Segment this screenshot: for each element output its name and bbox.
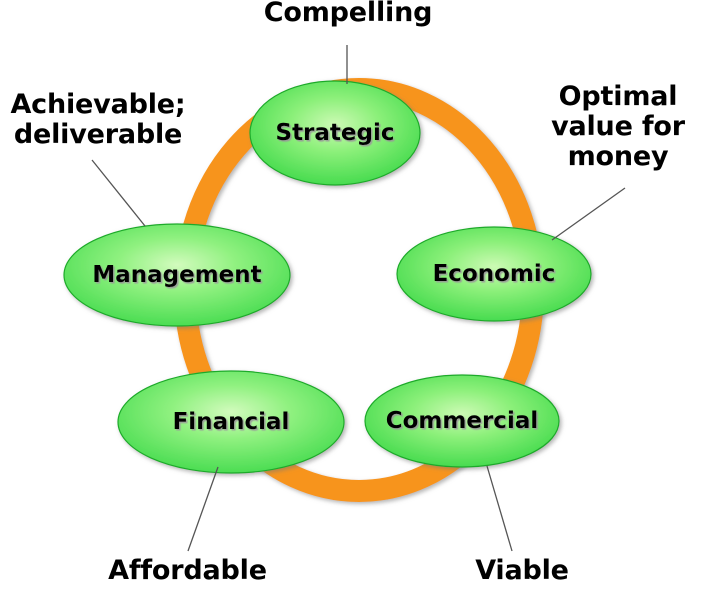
leader-line-affordable [188,467,218,551]
annotation-compelling: Compelling [248,0,448,28]
leader-line-achievable-deliverable [92,160,145,226]
node-financial-label: Financial [173,409,290,435]
annotation-viable: Viable [442,556,602,586]
node-management[interactable]: Management [64,224,290,326]
node-commercial-label: Commercial [386,408,538,434]
leader-line-viable [487,466,512,551]
node-economic-label: Economic [433,261,556,287]
leader-line-optimal-value-for-money [552,188,625,240]
annotation-optimal-value-for-money: Optimal value for money [532,82,704,173]
node-financial[interactable]: Financial [118,371,344,473]
diagram-canvas: Commercial Financial Economic Management… [0,0,704,600]
node-commercial[interactable]: Commercial [365,375,559,467]
node-management-label: Management [92,262,261,288]
node-strategic[interactable]: Strategic [250,81,420,185]
node-strategic-label: Strategic [276,120,395,146]
annotation-achievable-deliverable: Achievable; deliverable [0,90,196,150]
annotation-affordable: Affordable [85,556,290,586]
node-economic[interactable]: Economic [397,227,591,321]
